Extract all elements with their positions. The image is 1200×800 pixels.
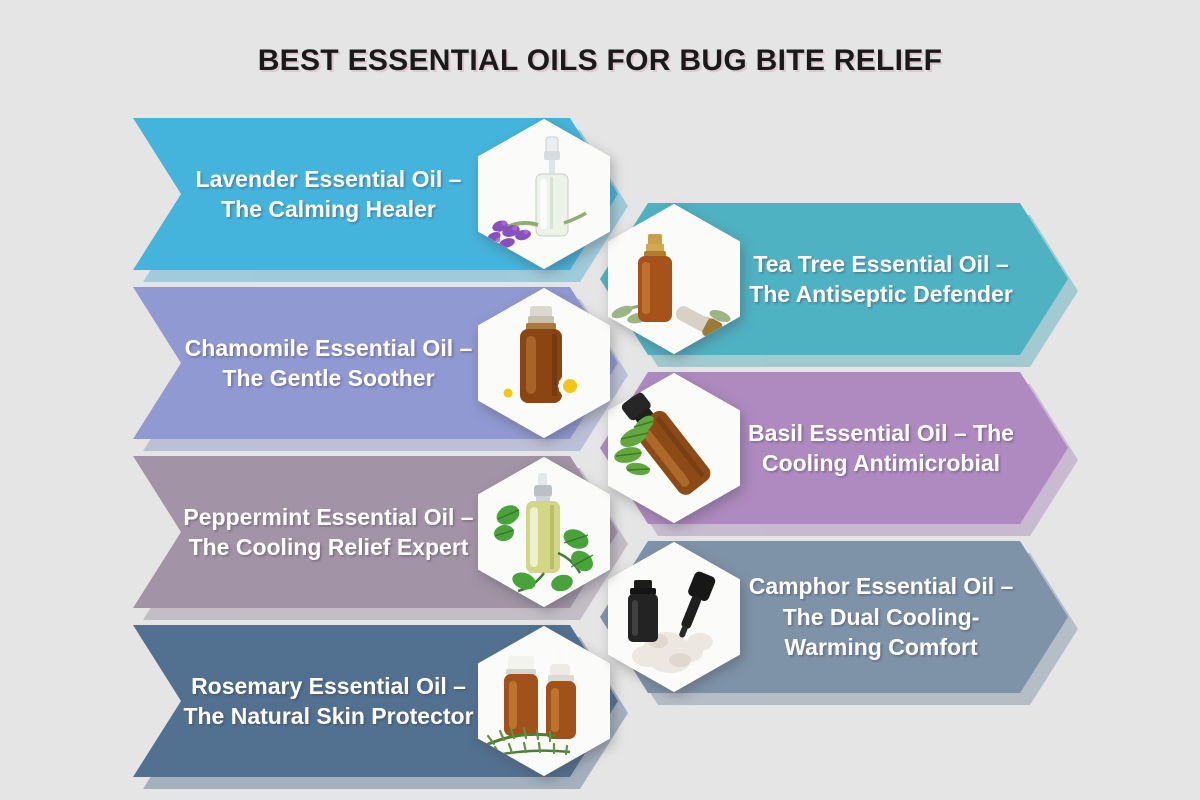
banner-label-camphor: Camphor Essential Oil – The Dual Cooling… [728, 571, 1034, 662]
banner-item-camphor[interactable]: Camphor Essential Oil – The Dual Cooling… [600, 541, 1068, 693]
banner-item-peppermint[interactable]: Peppermint Essential Oil – The Cooling R… [133, 456, 618, 608]
banner-thumbnail-rosemary [478, 626, 610, 776]
peppermint-oil-bottle-icon [478, 457, 610, 607]
banner-thumbnail-camphor [608, 542, 740, 692]
banner-thumbnail-basil [608, 373, 740, 523]
banner-thumbnail-lavender [478, 119, 610, 269]
banner-label-lavender: Lavender Essential Oil – The Calming Hea… [167, 164, 490, 225]
banner-label-chamomile: Chamomile Essential Oil – The Gentle Soo… [167, 333, 490, 394]
tea-tree-oil-bottle-icon [608, 204, 740, 354]
banner-item-basil[interactable]: Basil Essential Oil – The Cooling Antimi… [600, 372, 1068, 524]
infographic-banner-stage: Lavender Essential Oil – The Calming Hea… [0, 0, 1200, 800]
banner-label-rosemary: Rosemary Essential Oil – The Natural Ski… [167, 671, 490, 732]
banner-label-basil: Basil Essential Oil – The Cooling Antimi… [728, 418, 1034, 479]
banner-thumbnail-tea-tree [608, 204, 740, 354]
banner-thumbnail-chamomile [478, 288, 610, 438]
banner-label-peppermint: Peppermint Essential Oil – The Cooling R… [167, 502, 490, 563]
rosemary-oil-bottle-icon [478, 626, 610, 776]
camphor-oil-bottle-icon [608, 542, 740, 692]
banner-item-chamomile[interactable]: Chamomile Essential Oil – The Gentle Soo… [133, 287, 618, 439]
banner-item-rosemary[interactable]: Rosemary Essential Oil – The Natural Ski… [133, 625, 618, 777]
basil-oil-bottle-icon [608, 373, 740, 523]
banner-item-tea-tree[interactable]: Tea Tree Essential Oil – The Antiseptic … [600, 203, 1068, 355]
lavender-oil-bottle-icon [478, 119, 610, 269]
banner-label-tea-tree: Tea Tree Essential Oil – The Antiseptic … [728, 249, 1034, 310]
banner-thumbnail-peppermint [478, 457, 610, 607]
chamomile-oil-bottle-icon [478, 288, 610, 438]
banner-item-lavender[interactable]: Lavender Essential Oil – The Calming Hea… [133, 118, 618, 270]
